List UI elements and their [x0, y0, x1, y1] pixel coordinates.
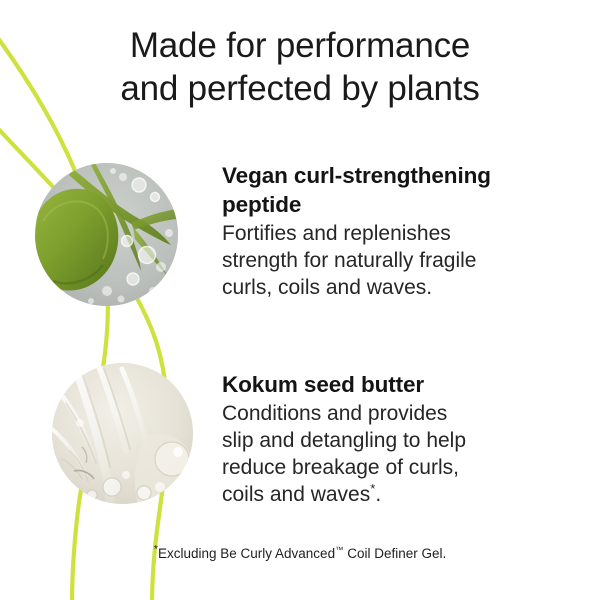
desc-line-2: strength for naturally fragile	[222, 247, 522, 274]
aloe-gel-photo-illustration	[35, 163, 178, 306]
headline-line-2: and perfected by plants	[0, 67, 600, 110]
ingredient-description-kokum: Conditions and provides slip and detangl…	[222, 400, 522, 508]
ingredient-description-peptide: Fortifies and replenishes strength for n…	[222, 220, 522, 301]
ingredient-text-peptide: Vegan curl-strengthening peptide Fortifi…	[222, 161, 522, 301]
footnote-text-after-tm: Coil Definer Gel.	[343, 546, 446, 561]
ingredient-title-kokum: Kokum seed butter	[222, 370, 522, 399]
ingredient-image-peptide	[35, 163, 178, 306]
desc-line-4-period: .	[375, 483, 381, 506]
desc-line-3: reduce breakage of curls,	[222, 454, 522, 481]
ingredient-text-kokum: Kokum seed butter Conditions and provide…	[222, 370, 522, 508]
footnote-text-before-tm: Excluding Be Curly Advanced	[158, 546, 335, 561]
footnote: *Excluding Be Curly Advanced™ Coil Defin…	[0, 545, 600, 563]
butter-texture-photo-illustration	[52, 363, 193, 504]
desc-line-4-text: coils and waves	[222, 483, 370, 506]
ingredient-title-line-2: peptide	[222, 192, 301, 217]
desc-line-1: Fortifies and replenishes	[222, 220, 522, 247]
page-title: Made for performance and perfected by pl…	[0, 24, 600, 110]
ingredient-title-peptide: Vegan curl-strengthening peptide	[222, 161, 522, 219]
vine-line-left	[0, 30, 108, 600]
desc-line-4: coils and waves*.	[222, 481, 522, 508]
desc-line-3: curls, coils and waves.	[222, 274, 522, 301]
desc-line-1: Conditions and provides	[222, 400, 522, 427]
ingredient-image-kokum	[52, 363, 193, 504]
headline-line-1: Made for performance	[0, 24, 600, 67]
ingredient-title-line-1: Vegan curl-strengthening	[222, 163, 491, 188]
desc-line-2: slip and detangling to help	[222, 427, 522, 454]
infographic-canvas: Made for performance and perfected by pl…	[0, 0, 600, 600]
